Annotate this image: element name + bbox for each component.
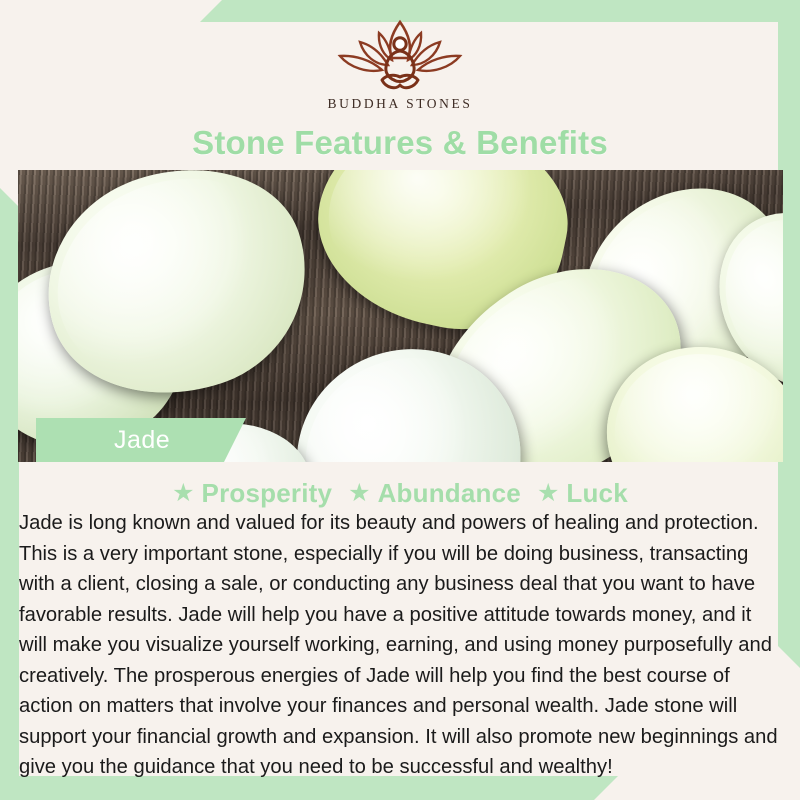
page-title: Stone Features & Benefits — [0, 124, 800, 162]
lotus-meditation-icon — [324, 18, 476, 92]
stone-description-text: Jade is long known and valued for its be… — [19, 508, 785, 783]
stone-name-label: Jade — [36, 426, 170, 455]
benefit-label: Abundance — [378, 478, 521, 509]
star-icon: ★ — [537, 481, 559, 506]
benefit-item-prosperity: ★ Prosperity — [172, 478, 332, 509]
jade-tumbled-stones-photo: Jade — [18, 170, 783, 462]
brand-logo-block: BUDDHA STONES — [0, 18, 800, 112]
star-icon: ★ — [172, 481, 194, 506]
star-icon: ★ — [348, 481, 370, 506]
benefits-row: ★ Prosperity ★ Abundance ★ Luck — [0, 478, 800, 509]
infographic-page: BUDDHA STONES Stone Features & Benefits … — [0, 0, 800, 800]
benefit-item-luck: ★ Luck — [537, 478, 628, 509]
benefit-label: Luck — [566, 478, 627, 509]
page-header: BUDDHA STONES Stone Features & Benefits — [0, 0, 800, 170]
stone-name-banner: Jade — [36, 418, 246, 462]
benefit-item-abundance: ★ Abundance — [348, 478, 521, 509]
benefit-label: Prosperity — [202, 478, 333, 509]
brand-wordmark: BUDDHA STONES — [0, 96, 800, 112]
